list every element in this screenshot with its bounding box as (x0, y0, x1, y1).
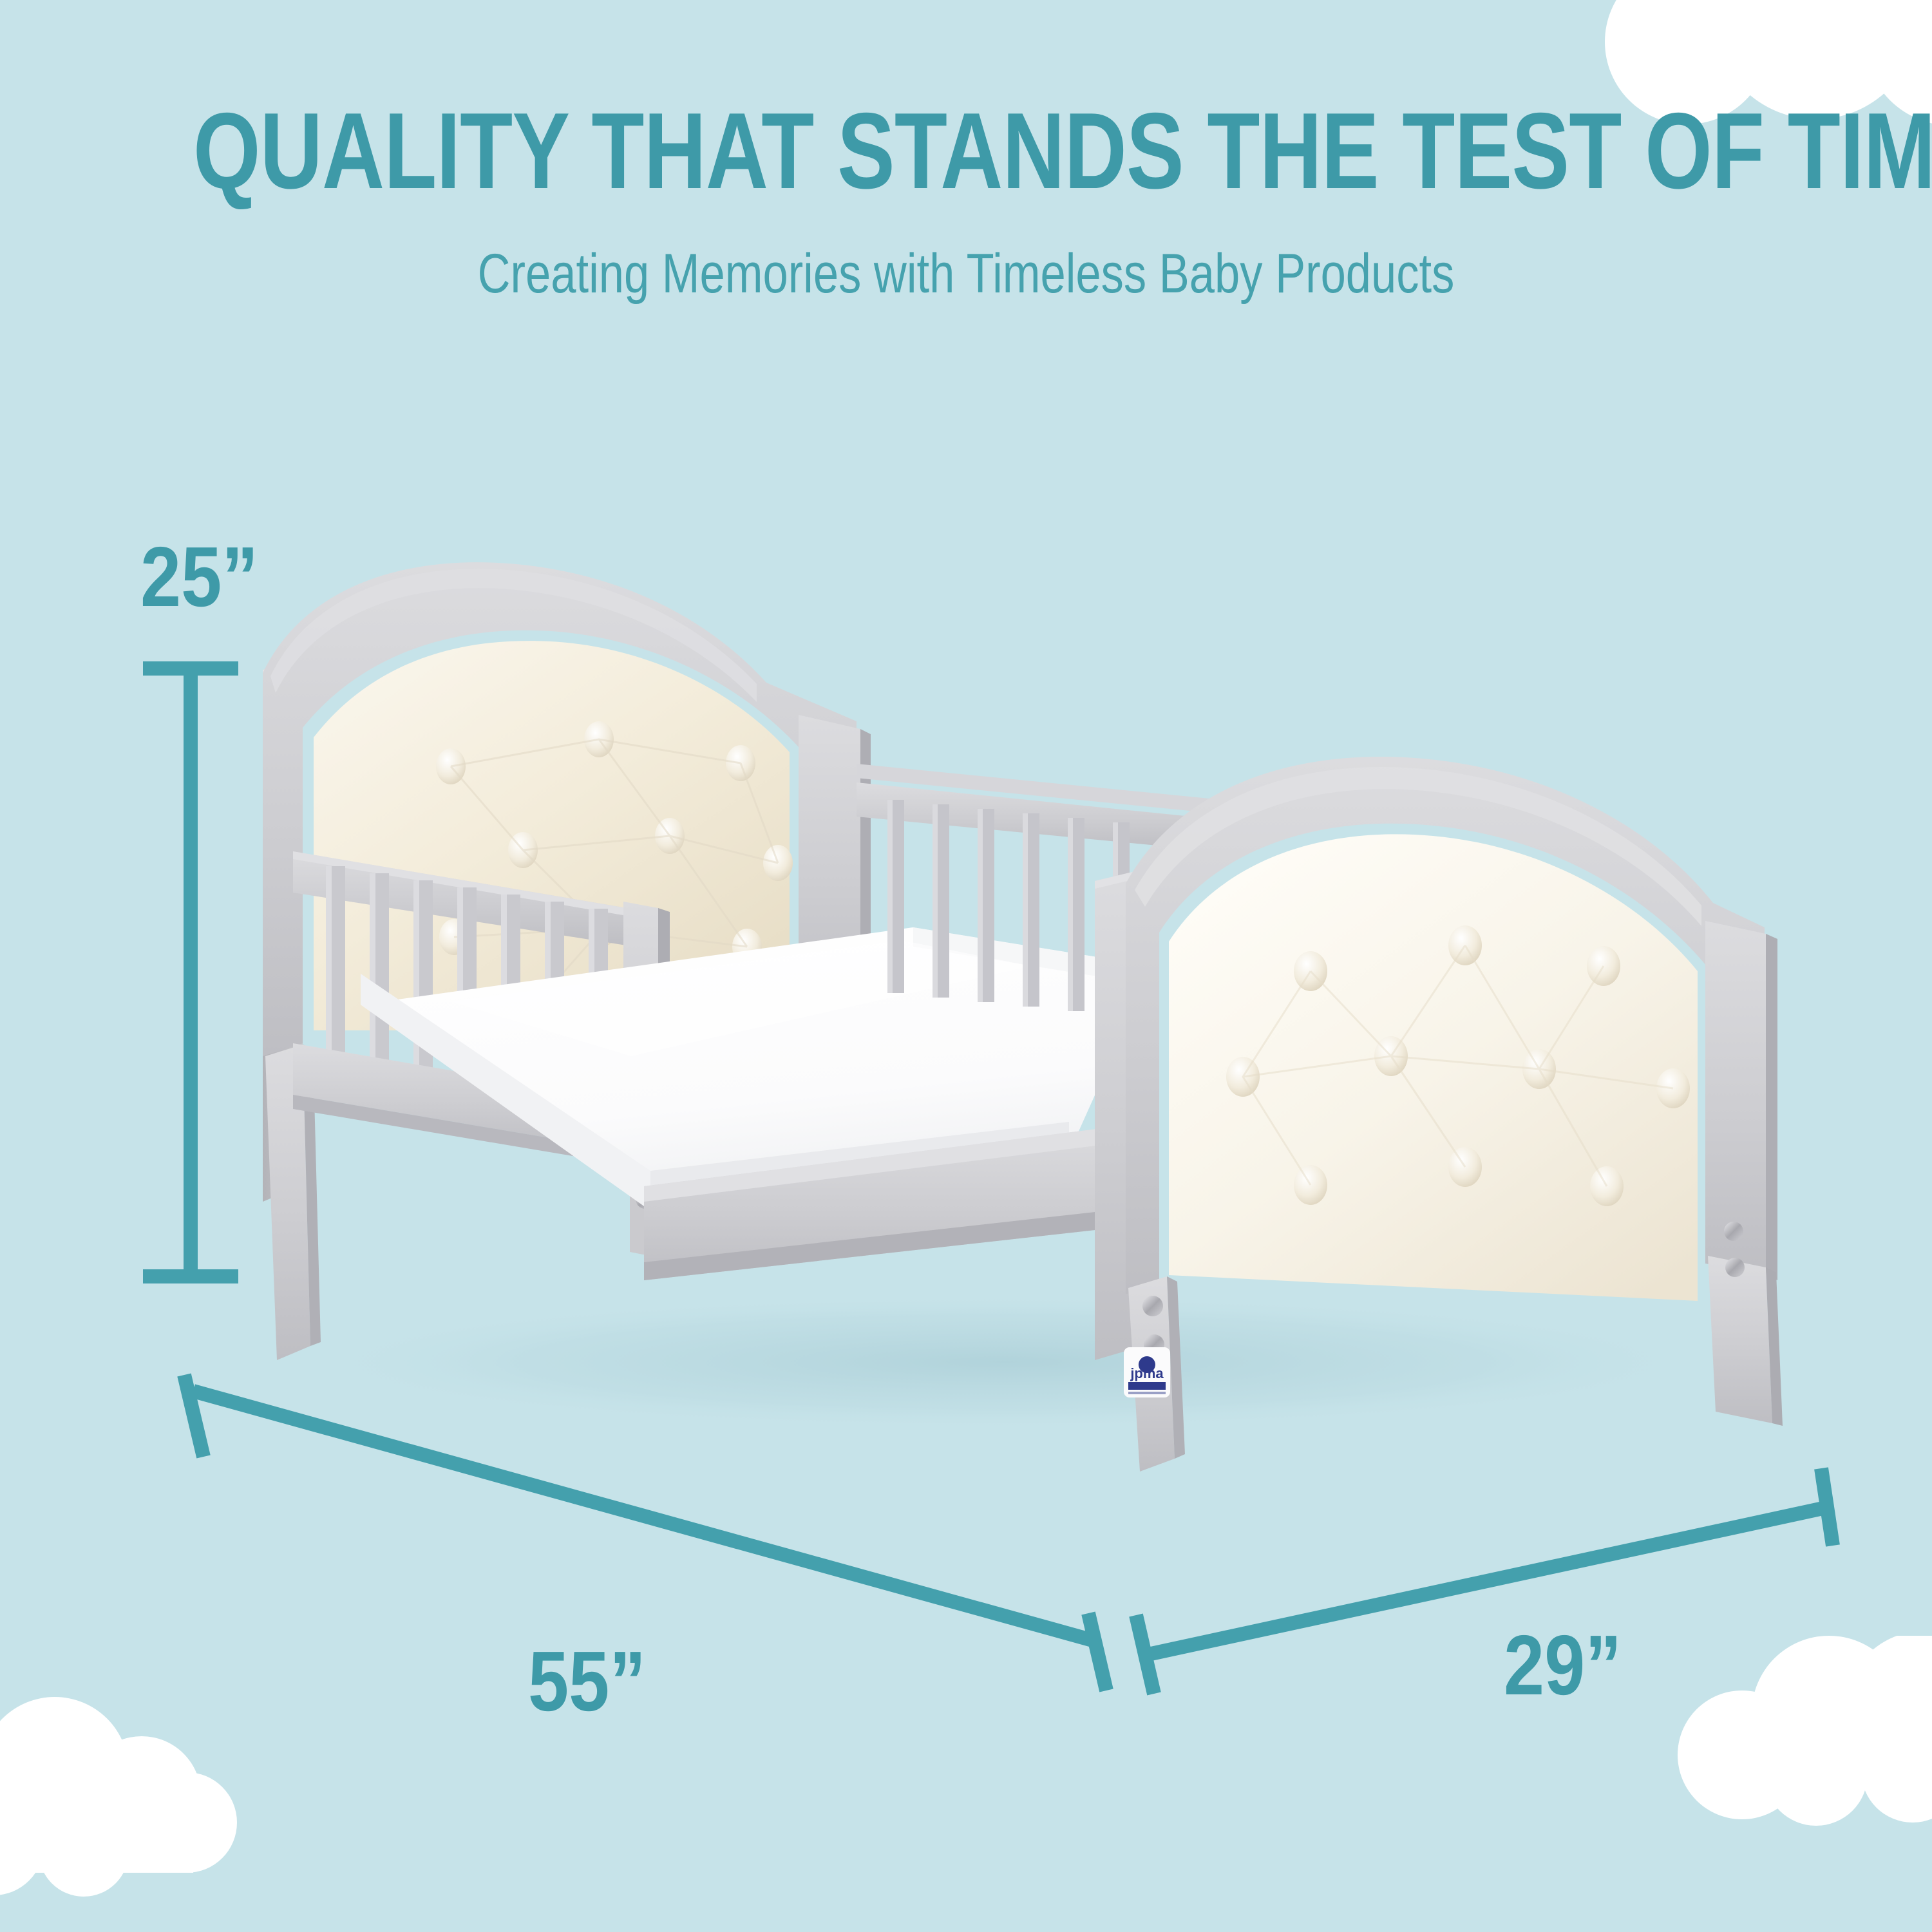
depth-dimension-label: 29” (1504, 1623, 1622, 1708)
toddler-bed-illustration: jpma (0, 0, 1932, 1932)
jpma-certified-badge: jpma (1124, 1347, 1170, 1397)
bed-ground-shadow (303, 1294, 1707, 1430)
length-dimension-label: 55” (528, 1639, 646, 1724)
infographic-canvas: QUALITY THAT STANDS THE TEST OF TIME Cre… (0, 0, 1932, 1932)
height-dimension-label: 25” (140, 535, 258, 620)
svg-text:jpma: jpma (1130, 1365, 1164, 1381)
